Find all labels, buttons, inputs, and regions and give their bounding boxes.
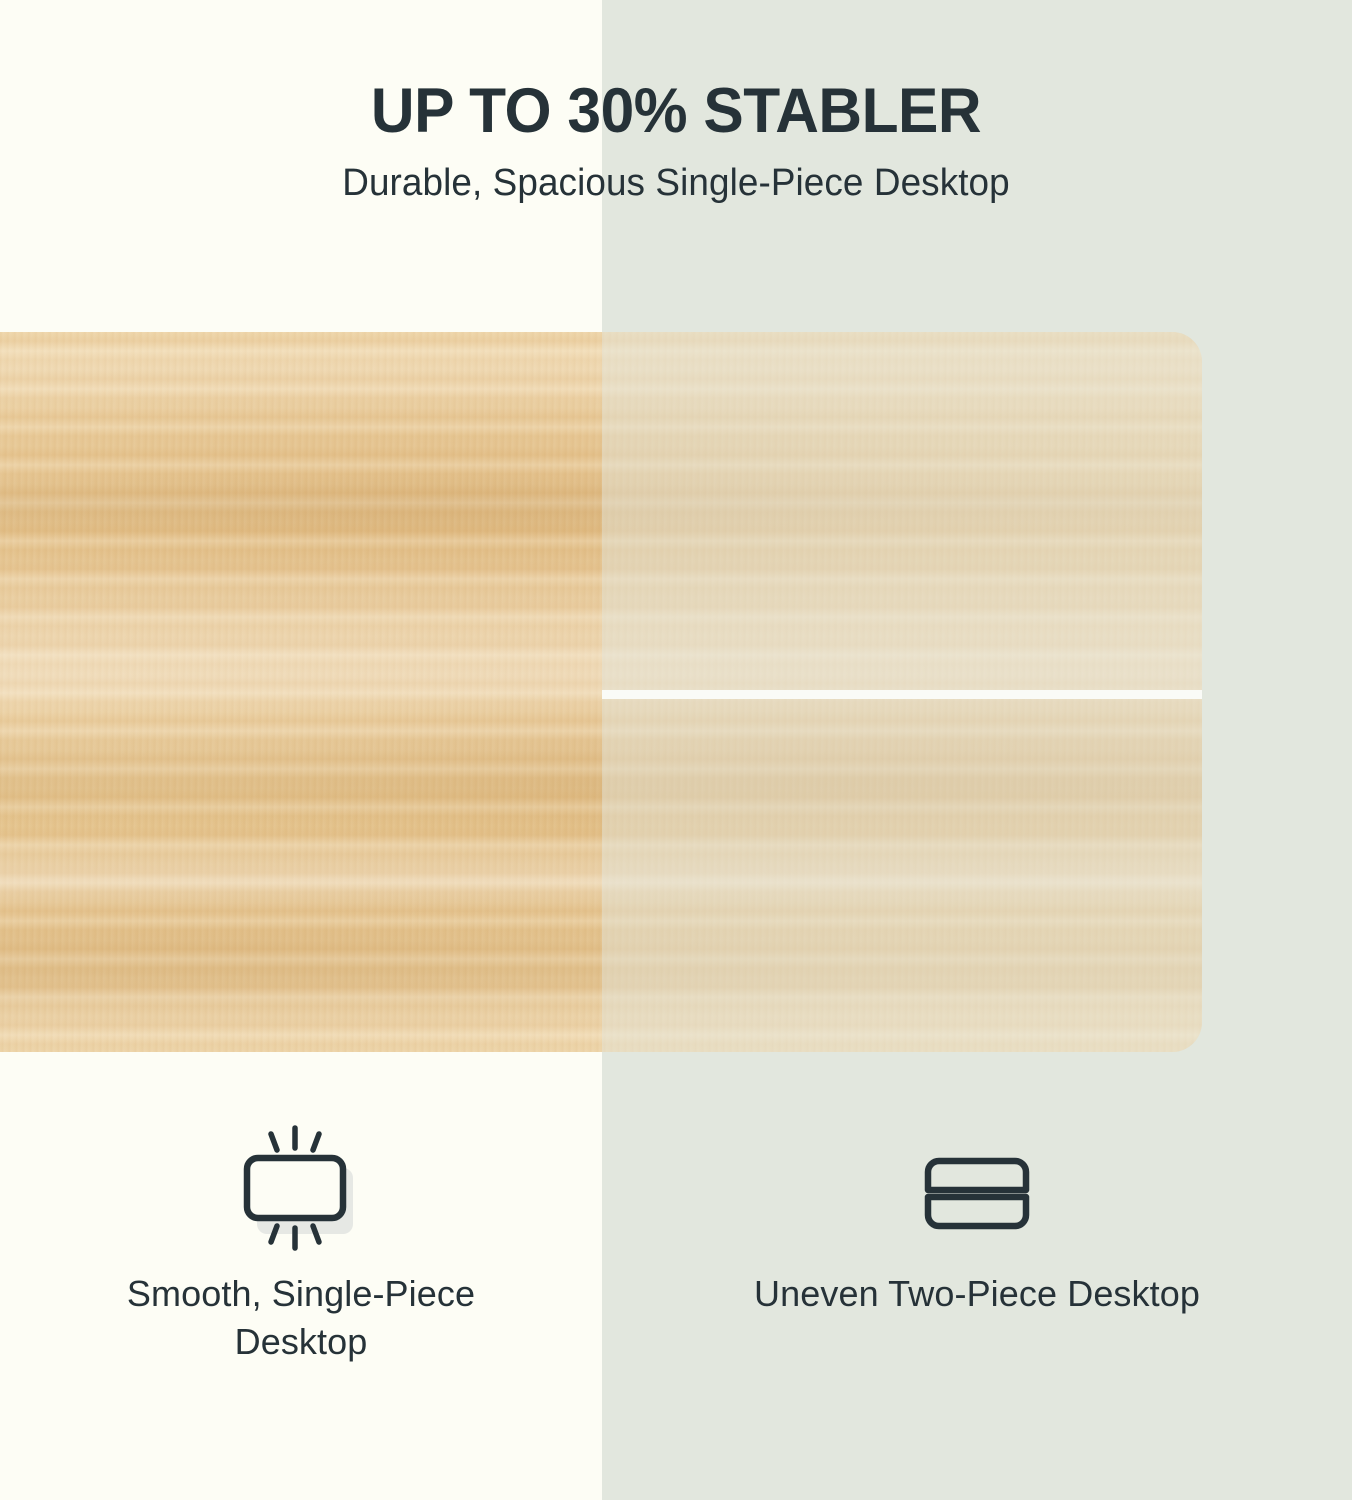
two-piece-desktop-icon-svg [911,1124,1043,1264]
comparison-caption-two-piece: Uneven Two-Piece Desktop [754,1270,1200,1318]
comparison-tint-overlay [602,332,1202,1052]
heading-block: UP TO 30% STABLER Durable, Spacious Sing… [0,78,1352,206]
comparison-caption-single-piece: Smooth, Single-Piece Desktop [66,1270,536,1365]
single-piece-desktop-icon-svg [235,1124,367,1264]
two-piece-desktop-icon [911,1118,1043,1270]
desktop-seam-line [602,690,1202,699]
single-piece-desktop-icon [235,1118,367,1270]
infographic-canvas: UP TO 30% STABLER Durable, Spacious Sing… [0,0,1352,1500]
page-title: UP TO 30% STABLER [27,78,1325,145]
page-subtitle: Durable, Spacious Single-Piece Desktop [20,161,1331,207]
desktop-surface-image [0,332,1202,1052]
comparison-item-single-piece: Smooth, Single-Piece Desktop [0,1118,602,1448]
comparison-row: Smooth, Single-Piece Desktop Uneven Two-… [0,1118,1352,1448]
comparison-item-two-piece: Uneven Two-Piece Desktop [602,1118,1352,1448]
